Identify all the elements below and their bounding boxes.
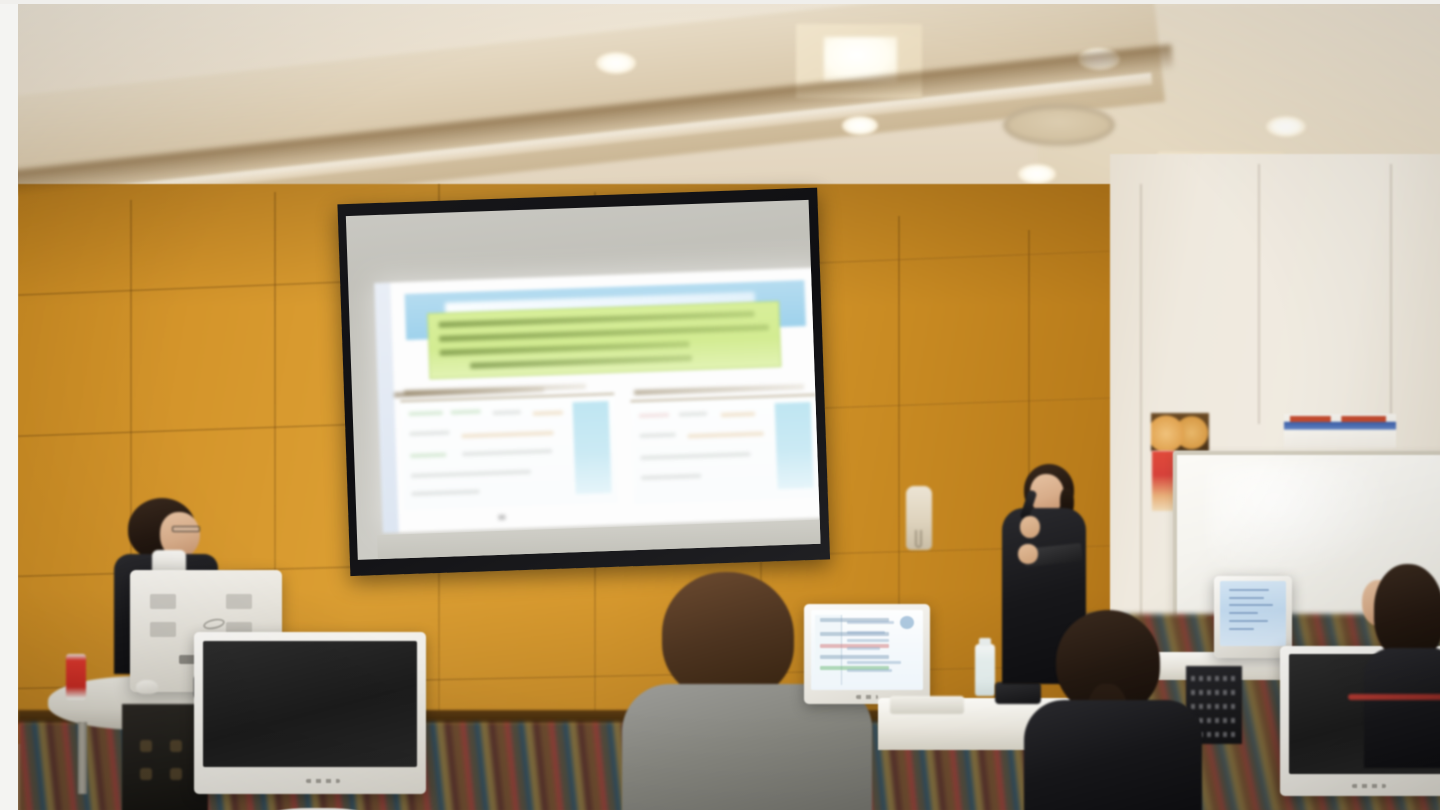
slide-highlight-line-1 xyxy=(439,311,755,328)
downlight-3 xyxy=(1266,116,1306,137)
slide-panel-right-heading xyxy=(634,384,804,395)
pc-drive-bay xyxy=(140,740,152,752)
screen-text-line xyxy=(1229,597,1263,599)
slide-cell xyxy=(533,411,563,416)
poster-blue-banner xyxy=(1284,414,1396,448)
screen-text-line xyxy=(1229,589,1269,591)
downlight-1 xyxy=(596,52,636,74)
slide-cell xyxy=(462,431,554,438)
slide-cell xyxy=(409,431,449,436)
right-wall-seam-2 xyxy=(1258,164,1260,424)
presentation-slide xyxy=(374,267,820,533)
screen-body-line xyxy=(847,631,885,634)
monitor-left-foreground-stand xyxy=(194,632,426,810)
manufacturer-logo xyxy=(202,617,226,631)
slide-sidebar xyxy=(374,283,399,533)
round-desk-leg xyxy=(78,722,87,794)
slide-cell xyxy=(411,490,479,496)
slide-cell xyxy=(409,411,443,416)
monitor-vent-grille xyxy=(150,622,176,637)
slide-cell xyxy=(639,413,669,418)
monitor-buttons[interactable] xyxy=(1352,784,1386,788)
glasses-icon xyxy=(172,526,200,532)
bottle-cap xyxy=(979,638,991,646)
monitor-buttons[interactable] xyxy=(856,695,878,699)
screen-body-line xyxy=(847,639,890,642)
screen-nav-item xyxy=(820,655,889,659)
audience-woman-far-right-head xyxy=(1374,564,1440,660)
screen-text-line xyxy=(1229,612,1258,614)
screen-text-line xyxy=(1229,628,1254,630)
screen-body-line xyxy=(847,621,894,624)
presenter-hand-papers xyxy=(1018,544,1038,564)
slide-cell xyxy=(679,412,707,417)
slide-cell xyxy=(721,412,755,417)
screen-avatar xyxy=(900,616,915,630)
slide-cell xyxy=(688,432,764,439)
audience-woman-center-right xyxy=(1024,610,1214,810)
downlight-4 xyxy=(842,116,878,135)
soda-can[interactable] xyxy=(66,654,86,700)
screen-body-line xyxy=(847,647,881,650)
screen-body-line xyxy=(847,661,901,664)
right-wall-seam-3 xyxy=(1390,164,1392,414)
presenter-hand-mic xyxy=(1020,516,1040,538)
slide-cell xyxy=(493,410,521,415)
slide-cell xyxy=(640,433,676,438)
monitor-right-rear-content xyxy=(1220,581,1286,646)
ceiling-vent-1 xyxy=(1003,104,1115,146)
screen-nav-panel xyxy=(815,615,842,685)
screen-text-line xyxy=(1229,620,1267,622)
pc-drive-bay xyxy=(170,768,182,780)
slide-panel-left-accent-column xyxy=(572,401,611,494)
keyboard-center[interactable] xyxy=(890,696,964,714)
slide-cell xyxy=(410,453,446,458)
slide-highlight-box xyxy=(427,301,781,379)
slide-highlight-line-2 xyxy=(439,324,769,342)
pc-drive-bay xyxy=(140,768,152,780)
wall-phone-cord xyxy=(915,530,922,548)
slide-cell xyxy=(641,474,701,480)
poster-blue-banner-topbar xyxy=(1290,416,1386,422)
monitor-vent-grille xyxy=(226,594,252,609)
audience-man-center-head xyxy=(662,572,794,700)
monitor-center[interactable] xyxy=(804,604,930,704)
monitor-vent-grille xyxy=(150,594,176,609)
screenshot-stage xyxy=(0,0,1440,810)
screen-text-line xyxy=(1229,604,1273,606)
water-bottle[interactable] xyxy=(975,644,995,696)
slide-panel-left xyxy=(400,393,618,510)
poster-illustration xyxy=(1151,413,1209,451)
audience-woman-far-right-torso xyxy=(1364,648,1440,768)
slide-page-marker xyxy=(498,515,505,520)
slide-highlight-line-3 xyxy=(440,341,690,356)
seminar-room-photo xyxy=(18,4,1440,810)
audience-woman-torso xyxy=(1024,700,1202,810)
monitor-center-content xyxy=(811,610,923,690)
slide-cell xyxy=(411,470,531,478)
downlight-5 xyxy=(1018,164,1056,184)
slide-panel-right xyxy=(630,394,820,504)
image-left-border xyxy=(0,0,18,810)
wall-phone[interactable] xyxy=(906,486,932,550)
monitor-right-rear-screen xyxy=(1220,581,1286,646)
cable-bundle xyxy=(1348,694,1440,700)
slide-panel-right-accent-column xyxy=(775,402,814,489)
slide-highlight-line-4 xyxy=(470,355,692,369)
audience-woman-far-right xyxy=(1358,564,1440,764)
slide-cell xyxy=(462,449,552,456)
slide-cell xyxy=(451,409,481,414)
poster-red-vertical xyxy=(1152,451,1174,511)
projection-screen xyxy=(323,185,836,592)
monitor-center-screen xyxy=(811,610,923,690)
screen-body-line xyxy=(847,669,892,672)
projection-screen-canvas xyxy=(346,200,821,560)
slide-cell xyxy=(640,452,750,460)
pc-drive-bay xyxy=(170,740,182,752)
computer-mouse-left[interactable] xyxy=(136,680,158,694)
